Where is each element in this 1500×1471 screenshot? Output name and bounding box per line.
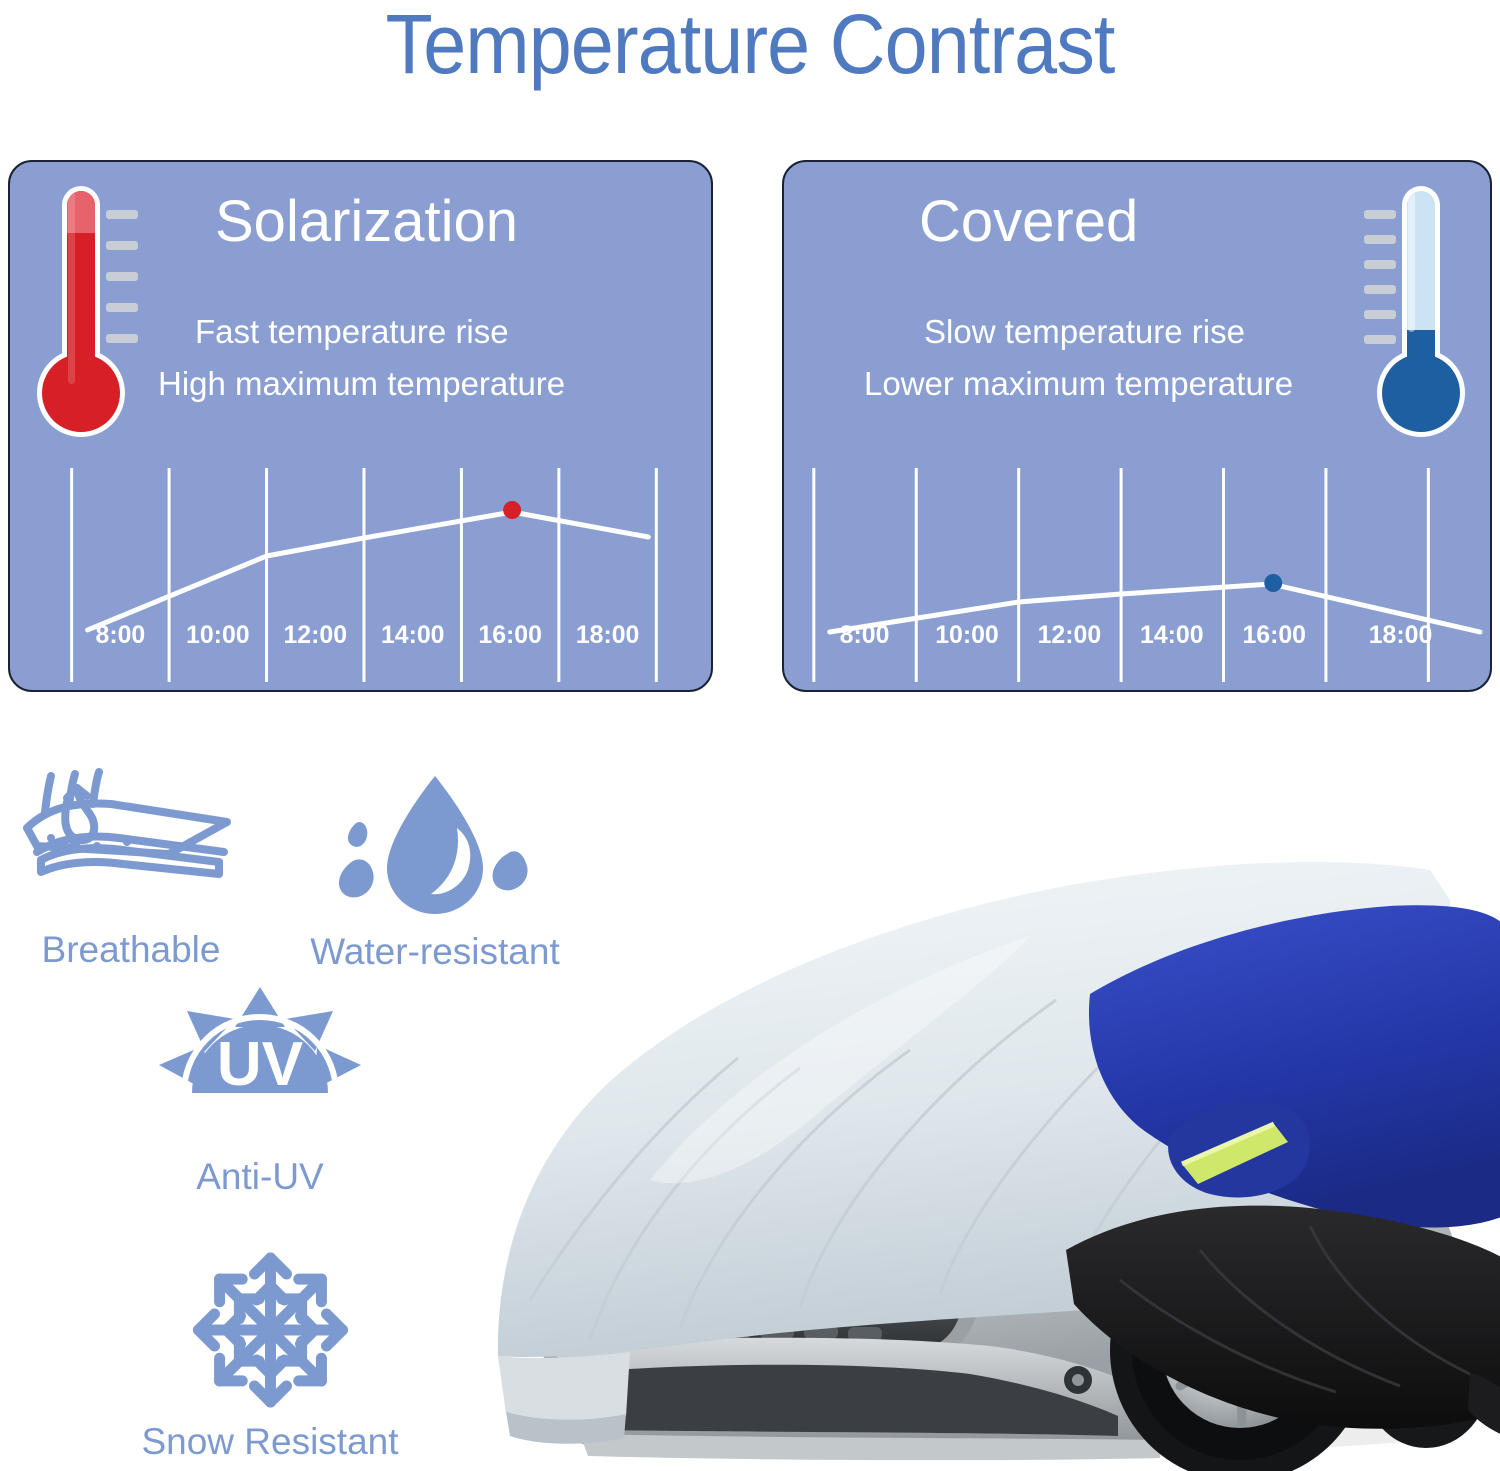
tick-label: 12:00: [283, 621, 347, 649]
tick-label: 8:00: [96, 621, 146, 649]
cover-hem-left: [498, 1352, 630, 1422]
panel-covered: Covered Slow temperature rise Lower maxi…: [782, 160, 1492, 692]
snowflake-icon: [183, 1245, 358, 1415]
feature-label: Breathable: [0, 927, 262, 973]
sun-uv-icon: UV: [155, 985, 365, 1150]
tick-label: 14:00: [1140, 621, 1204, 649]
page-title: Temperature Contrast: [60, 0, 1440, 92]
infographic-root: Temperature Contrast: [0, 0, 1500, 1471]
tick-label: 8:00: [840, 621, 890, 649]
breathable-fabric-icon: [19, 768, 244, 923]
panel-line-high-max: High maximum temperature: [158, 362, 565, 406]
tick-label: 14:00: [381, 621, 445, 649]
panel-line-fast-rise: Fast temperature rise: [195, 310, 509, 354]
tick-label: 10:00: [935, 621, 999, 649]
panel-solarization: Solarization Fast temperature rise High …: [8, 160, 713, 692]
suv-with-car-cover-photo: [470, 780, 1500, 1471]
thermometer-ticks: [106, 210, 138, 343]
feature-label: Snow Resistant: [120, 1419, 420, 1465]
feature-label: Anti-UV: [110, 1154, 410, 1200]
thermometer-ticks: [1364, 210, 1396, 344]
solarization-chart: 8:00 10:00 12:00 14:00 16:00 18:00: [10, 460, 711, 690]
tick-label: 16:00: [478, 621, 542, 649]
tick-label: 12:00: [1038, 621, 1102, 649]
feature-snow-resistant: Snow Resistant: [120, 1245, 420, 1465]
panel-heading-covered: Covered: [919, 190, 1138, 254]
panel-line-lower-max: Lower maximum temperature: [864, 362, 1293, 406]
tick-label: 10:00: [186, 621, 250, 649]
cold-thermometer-icon: [1352, 180, 1470, 442]
feature-breathable: Breathable: [0, 768, 262, 973]
hot-thermometer-icon: [32, 180, 150, 442]
tick-label: 18:00: [576, 621, 640, 649]
comparison-panels: Solarization Fast temperature rise High …: [8, 160, 1492, 692]
uv-icon-text: UV: [217, 1030, 303, 1099]
tick-label: 18:00: [1369, 621, 1433, 649]
panel-line-slow-rise: Slow temperature rise: [924, 310, 1245, 354]
feature-anti-uv: UV Anti-UV: [110, 985, 410, 1200]
covered-chart: 8:00 10:00 12:00 14:00 16:00 18:00: [784, 460, 1490, 690]
panel-heading-solarization: Solarization: [215, 190, 518, 254]
tick-label: 16:00: [1242, 621, 1306, 649]
